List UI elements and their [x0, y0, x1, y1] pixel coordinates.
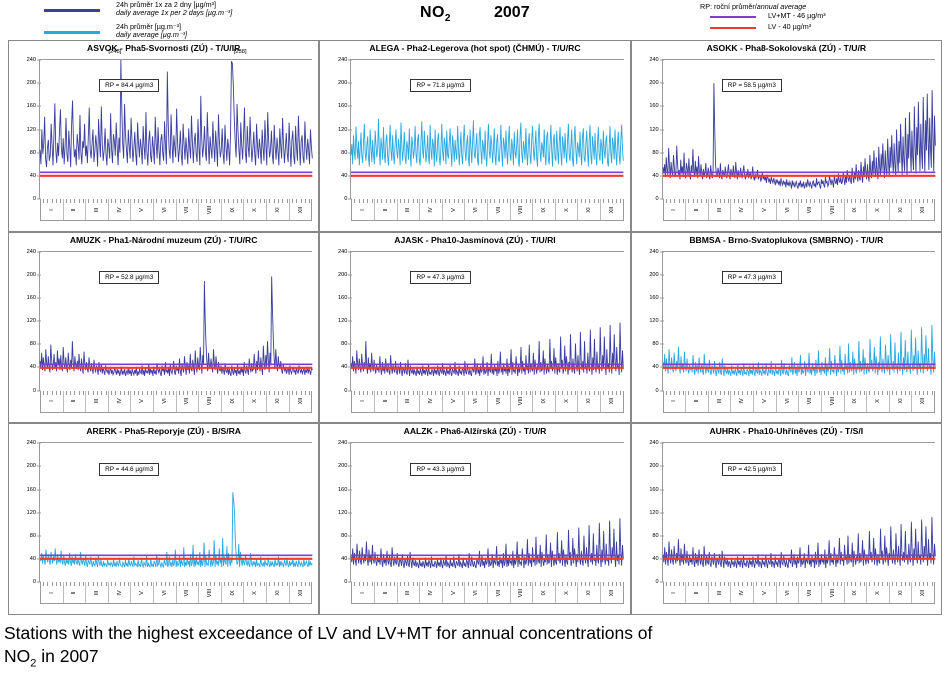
x-tick-mark [278, 199, 279, 203]
x-tick-mark [905, 582, 906, 586]
x-tick-mark [79, 199, 80, 203]
x-tick-label: VI [162, 207, 168, 212]
x-tick-mark [783, 391, 784, 395]
x-axis-month-cell: III [86, 582, 109, 603]
x-tick-mark [490, 199, 491, 203]
x-tick-label: X [875, 591, 881, 595]
x-tick-group [131, 582, 153, 586]
x-tick-mark [169, 199, 170, 203]
x-tick-label: VII [807, 589, 813, 596]
x-tick-mark [837, 582, 838, 586]
x-tick-group [131, 199, 153, 203]
x-tick-mark [292, 199, 293, 203]
x-tick-mark [476, 582, 477, 586]
x-tick-mark [301, 582, 302, 586]
x-tick-group [601, 199, 623, 203]
x-axis-month-cell: II [64, 391, 87, 412]
x-axis-month-cell: IV [109, 199, 132, 220]
figure-caption: Stations with the highest exceedance of … [4, 622, 704, 676]
x-axis-month-cell: IX [222, 391, 245, 412]
x-tick-mark [567, 199, 568, 203]
x-tick-mark [769, 582, 770, 586]
x-tick-mark [43, 582, 44, 586]
rp-annual-average-box: RP = 71.8 µg/m3 [410, 79, 470, 92]
rp-annual-average-box: RP = 43.3 µg/m3 [410, 463, 470, 476]
x-tick-mark [359, 199, 360, 203]
x-tick-mark [363, 582, 364, 586]
x-tick-mark [530, 391, 531, 395]
x-tick-group [375, 391, 397, 395]
x-axis-month-cell: I [664, 582, 687, 603]
x-tick-mark [697, 582, 698, 586]
x-tick-mark [485, 582, 486, 586]
x-tick-mark [521, 199, 522, 203]
plot-box: 04080120160200240IIIIIIIVVVIVIIVIIIIXXXI… [350, 59, 623, 199]
x-tick-label: III [94, 590, 100, 595]
x-tick-group [709, 391, 731, 395]
x-axis: IIIIIIIVVVIVIIVIIIIXXXIXII [351, 391, 623, 413]
x-tick-group [533, 391, 555, 395]
x-tick-group [556, 199, 578, 203]
x-tick-label: X [564, 591, 570, 595]
x-tick-mark [301, 391, 302, 395]
x-tick-label: IV [428, 399, 434, 404]
x-tick-mark [544, 199, 545, 203]
y-tick-label: 200 [10, 272, 36, 278]
x-tick-mark [494, 199, 495, 203]
x-tick-group [290, 199, 312, 203]
x-tick-mark [761, 582, 762, 586]
x-tick-label: II [383, 591, 389, 594]
x-tick-label: II [71, 591, 77, 594]
y-axis: 04080120160200240 [633, 443, 661, 582]
y-tick-label: 80 [10, 150, 36, 156]
x-tick-label: XI [275, 399, 281, 404]
x-tick-group [443, 391, 465, 395]
x-tick-label: XII [920, 398, 926, 405]
x-axis-month-cell: III [398, 391, 421, 412]
x-tick-mark [458, 582, 459, 586]
x-tick-mark [255, 391, 256, 395]
series-legend: 24h průměr 1x za 2 dny [µg/m³] daily ave… [44, 3, 344, 42]
x-tick-mark [413, 582, 414, 586]
x-tick-mark [517, 582, 518, 586]
x-axis-month-cell: II [375, 199, 398, 220]
plot-area: 04080120160200240IIIIIIIVVVIVIIVIIIIXXXI… [662, 251, 935, 391]
x-tick-mark [828, 391, 829, 395]
x-tick-mark [751, 199, 752, 203]
x-tick-mark [233, 582, 234, 586]
chart-panel-asvok: ASVOK - Pha5-Svornosti (ZÚ) - T/U/IR0408… [8, 40, 319, 232]
x-tick-mark [196, 391, 197, 395]
x-tick-label: IV [739, 207, 745, 212]
x-tick-mark [60, 199, 61, 203]
x-tick-mark [869, 391, 870, 395]
x-tick-mark [372, 199, 373, 203]
x-tick-mark [860, 199, 861, 203]
x-axis-month-cell: X [244, 199, 267, 220]
x-tick-mark [278, 582, 279, 586]
x-tick-group [420, 582, 442, 586]
x-tick-mark [616, 391, 617, 395]
x-axis-month-cell: V [443, 582, 466, 603]
rp-annual-average-box: RP = 47.3 µg/m3 [722, 271, 782, 284]
x-tick-mark [138, 199, 139, 203]
x-tick-group [244, 199, 266, 203]
x-tick-mark [183, 582, 184, 586]
x-tick-mark [932, 199, 933, 203]
x-tick-mark [274, 391, 275, 395]
x-tick-mark [589, 391, 590, 395]
y-tick-label: 200 [10, 463, 36, 469]
y-tick-label: 160 [633, 295, 659, 301]
x-tick-label: XII [609, 589, 615, 596]
x-tick-mark [400, 199, 401, 203]
y-tick-label: 80 [10, 533, 36, 539]
x-tick-label: V [139, 208, 145, 212]
x-tick-mark [47, 391, 48, 395]
x-tick-mark [701, 582, 702, 586]
x-tick-mark [142, 391, 143, 395]
x-tick-mark [548, 391, 549, 395]
x-tick-mark [363, 391, 364, 395]
x-tick-mark [128, 582, 129, 586]
x-axis-month-cell: X [867, 582, 890, 603]
x-axis-month-cell: XI [267, 582, 290, 603]
x-tick-mark [79, 391, 80, 395]
x-tick-mark [507, 391, 508, 395]
x-axis-month-cell: VI [777, 391, 800, 412]
x-tick-mark [472, 199, 473, 203]
x-tick-mark [837, 391, 838, 395]
x-tick-label: III [94, 207, 100, 212]
x-tick-group [578, 199, 600, 203]
plot-area: 04080120160200240IIIIIIIVVVIVIIVIIIIXXXI… [39, 442, 312, 582]
x-tick-mark [728, 582, 729, 586]
x-axis-month-cell: VI [777, 582, 800, 603]
x-tick-mark [747, 391, 748, 395]
x-axis-month-cell: II [375, 582, 398, 603]
x-tick-mark [927, 582, 928, 586]
x-tick-mark [354, 199, 355, 203]
x-tick-group [754, 582, 776, 586]
x-tick-mark [354, 582, 355, 586]
x-tick-mark [247, 199, 248, 203]
x-tick-mark [173, 199, 174, 203]
x-tick-mark [801, 391, 802, 395]
x-tick-mark [612, 199, 613, 203]
x-axis-month-cell: VII [799, 199, 822, 220]
x-tick-mark [896, 199, 897, 203]
panel-title: ARERK - Pha5-Reporyje (ZÚ) - B/S/RA [9, 426, 318, 436]
x-tick-mark [919, 199, 920, 203]
x-axis: IIIIIIIVVVIVIIVIIIIXXXIXII [663, 199, 935, 221]
x-tick-label: I [49, 592, 55, 594]
legend-label-en-1: daily average 1x per 2 days [µg.m⁻³] [116, 9, 232, 17]
x-tick-group [398, 582, 420, 586]
x-tick-mark [806, 391, 807, 395]
x-tick-mark [513, 199, 514, 203]
x-tick-mark [269, 199, 270, 203]
x-tick-mark [517, 391, 518, 395]
x-tick-mark [801, 582, 802, 586]
x-tick-mark [535, 199, 536, 203]
x-tick-label: X [252, 208, 258, 212]
x-tick-label: VII [807, 398, 813, 405]
x-tick-mark [481, 391, 482, 395]
x-tick-group [799, 199, 821, 203]
x-tick-mark [309, 199, 310, 203]
x-axis-month-cell: VI [777, 199, 800, 220]
x-tick-mark [878, 391, 879, 395]
x-tick-mark [431, 391, 432, 395]
x-tick-group [799, 391, 821, 395]
x-axis-month-cell: II [64, 199, 87, 220]
x-tick-mark [869, 199, 870, 203]
x-tick-mark [683, 582, 684, 586]
x-tick-mark [562, 199, 563, 203]
x-tick-mark [394, 199, 395, 203]
x-tick-group [890, 391, 912, 395]
x-tick-mark [161, 391, 162, 395]
x-tick-mark [530, 199, 531, 203]
y-tick-label: 0 [321, 579, 347, 585]
x-tick-mark [165, 199, 166, 203]
x-tick-mark [562, 582, 563, 586]
x-tick-mark [874, 199, 875, 203]
x-tick-mark [724, 199, 725, 203]
y-tick-label: 120 [321, 318, 347, 324]
x-tick-mark [860, 582, 861, 586]
y-tick-label: 120 [10, 127, 36, 133]
x-tick-group [244, 582, 266, 586]
x-tick-mark [814, 582, 815, 586]
x-tick-mark [192, 582, 193, 586]
x-axis-month-cell: VIII [511, 582, 534, 603]
x-tick-mark [210, 582, 211, 586]
y-tick-label: 40 [321, 556, 347, 562]
x-tick-label: XII [298, 589, 304, 596]
x-tick-mark [711, 199, 712, 203]
x-tick-mark [796, 391, 797, 395]
x-tick-mark [503, 582, 504, 586]
x-tick-label: II [71, 400, 77, 403]
x-tick-label: VI [785, 207, 791, 212]
x-tick-label: I [360, 592, 366, 594]
x-tick-group [664, 391, 686, 395]
y-tick-label: 160 [633, 103, 659, 109]
x-tick-mark [449, 582, 450, 586]
chart-panel-arerk: ARERK - Pha5-Reporyje (ZÚ) - B/S/RA04080… [8, 423, 319, 615]
x-tick-mark [115, 199, 116, 203]
x-tick-mark [608, 391, 609, 395]
x-tick-group [777, 199, 799, 203]
x-axis-month-cell: III [709, 391, 732, 412]
data-series-line [663, 517, 935, 568]
x-tick-label: III [405, 399, 411, 404]
x-tick-mark [882, 391, 883, 395]
x-tick-mark [101, 582, 102, 586]
x-axis-month-cell: I [352, 391, 375, 412]
x-tick-mark [905, 391, 906, 395]
x-tick-mark [819, 582, 820, 586]
x-tick-mark [305, 582, 306, 586]
series-svg [663, 252, 935, 391]
x-tick-mark [165, 582, 166, 586]
x-tick-mark [359, 391, 360, 395]
x-tick-mark [670, 199, 671, 203]
x-tick-mark [581, 391, 582, 395]
x-tick-group [86, 391, 108, 395]
y-tick-label: 240 [321, 249, 347, 255]
x-tick-label: III [717, 590, 723, 595]
x-tick-label: IX [230, 399, 236, 404]
x-tick-mark [693, 582, 694, 586]
x-tick-group [86, 582, 108, 586]
x-tick-mark [796, 199, 797, 203]
x-axis-month-cell: III [86, 199, 109, 220]
x-tick-mark [810, 199, 811, 203]
x-tick-mark [901, 391, 902, 395]
x-tick-mark [742, 391, 743, 395]
x-tick-mark [462, 391, 463, 395]
x-tick-mark [255, 199, 256, 203]
x-tick-label: X [564, 208, 570, 212]
plot-box: 04080120160200240IIIIIIIVVVIVIIVIIIIXXXI… [39, 251, 312, 391]
x-tick-mark [490, 391, 491, 395]
x-tick-mark [201, 582, 202, 586]
x-tick-mark [548, 582, 549, 586]
x-tick-group [709, 582, 731, 586]
x-tick-mark [367, 391, 368, 395]
y-tick-label: 40 [321, 173, 347, 179]
x-tick-label: XII [298, 206, 304, 213]
x-tick-mark [237, 582, 238, 586]
x-tick-mark [594, 582, 595, 586]
x-axis-month-cell: V [754, 391, 777, 412]
x-tick-mark [183, 391, 184, 395]
x-axis-month-cell: XII [912, 391, 934, 412]
x-axis: IIIIIIIVVVIVIIVIIIIXXXIXII [351, 582, 623, 604]
x-tick-group [109, 391, 131, 395]
x-tick-label: V [451, 591, 457, 595]
x-tick-label: XII [920, 589, 926, 596]
x-tick-mark [454, 199, 455, 203]
x-tick-group [267, 582, 289, 586]
x-tick-label: VI [785, 590, 791, 595]
x-tick-mark [864, 199, 865, 203]
series-svg [40, 60, 312, 199]
y-tick-label: 40 [10, 556, 36, 562]
y-tick-label: 80 [321, 341, 347, 347]
x-tick-mark [264, 391, 265, 395]
y-tick-label: 40 [633, 556, 659, 562]
x-tick-group [890, 199, 912, 203]
x-axis-month-cell: VI [154, 391, 177, 412]
panel-title: ASVOK - Pha5-Svornosti (ZÚ) - T/U/IR [9, 43, 318, 53]
x-axis-month-cell: X [556, 199, 579, 220]
y-tick-label: 160 [321, 295, 347, 301]
x-tick-group [352, 199, 374, 203]
y-tick-label: 160 [10, 295, 36, 301]
x-tick-mark [147, 582, 148, 586]
x-tick-mark [765, 582, 766, 586]
x-tick-mark [774, 391, 775, 395]
x-tick-label: II [383, 208, 389, 211]
x-tick-label: VIII [830, 589, 836, 597]
x-tick-mark [435, 199, 436, 203]
x-tick-mark [97, 391, 98, 395]
x-tick-mark [847, 199, 848, 203]
x-tick-mark [526, 391, 527, 395]
x-tick-mark [792, 391, 793, 395]
x-tick-mark [905, 199, 906, 203]
x-tick-mark [120, 199, 121, 203]
x-tick-mark [134, 582, 135, 586]
x-tick-mark [138, 391, 139, 395]
x-tick-label: XII [298, 398, 304, 405]
x-tick-group [443, 582, 465, 586]
x-tick-mark [874, 582, 875, 586]
x-tick-mark [454, 582, 455, 586]
x-tick-label: XI [275, 590, 281, 595]
x-tick-mark [468, 582, 469, 586]
x-tick-mark [801, 199, 802, 203]
x-tick-mark [372, 582, 373, 586]
x-axis-month-cell: XII [290, 199, 312, 220]
x-tick-mark [394, 582, 395, 586]
x-tick-group [822, 582, 844, 586]
x-tick-mark [837, 199, 838, 203]
x-tick-group [375, 199, 397, 203]
x-tick-mark [874, 391, 875, 395]
panel-title: ALEGA - Pha2-Legerova (hot spot) (ČHMÚ) … [320, 43, 629, 53]
x-tick-group [154, 199, 176, 203]
x-tick-mark [603, 199, 604, 203]
x-tick-mark [183, 199, 184, 203]
x-tick-group [86, 199, 108, 203]
x-tick-mark [128, 391, 129, 395]
x-tick-mark [788, 582, 789, 586]
x-tick-label: I [671, 400, 677, 402]
x-tick-label: X [252, 591, 258, 595]
y-tick-label: 160 [321, 487, 347, 493]
y-axis: 04080120160200240 [10, 60, 38, 199]
x-tick-mark [923, 391, 924, 395]
x-axis-month-cell: IV [731, 582, 754, 603]
x-tick-group [799, 582, 821, 586]
x-tick-mark [301, 199, 302, 203]
x-tick-mark [882, 582, 883, 586]
x-tick-mark [679, 391, 680, 395]
panel-title: AJASK - Pha10-Jasmínová (ZÚ) - T/U/RI [320, 235, 629, 245]
x-tick-label: VII [184, 398, 190, 405]
x-tick-group [912, 391, 934, 395]
panel-title: BBMSA - Brno-Svatoplukova (SMBRNO) - T/U… [632, 235, 941, 245]
x-tick-mark [728, 391, 729, 395]
x-tick-group [154, 391, 176, 395]
x-tick-group [664, 582, 686, 586]
x-axis-month-cell: IV [420, 199, 443, 220]
x-tick-mark [919, 582, 920, 586]
x-tick-mark [66, 391, 67, 395]
x-tick-mark [598, 582, 599, 586]
x-axis-month-cell: IX [222, 199, 245, 220]
x-tick-mark [485, 199, 486, 203]
x-tick-mark [490, 582, 491, 586]
x-tick-label: XI [586, 590, 592, 595]
x-tick-mark [724, 391, 725, 395]
